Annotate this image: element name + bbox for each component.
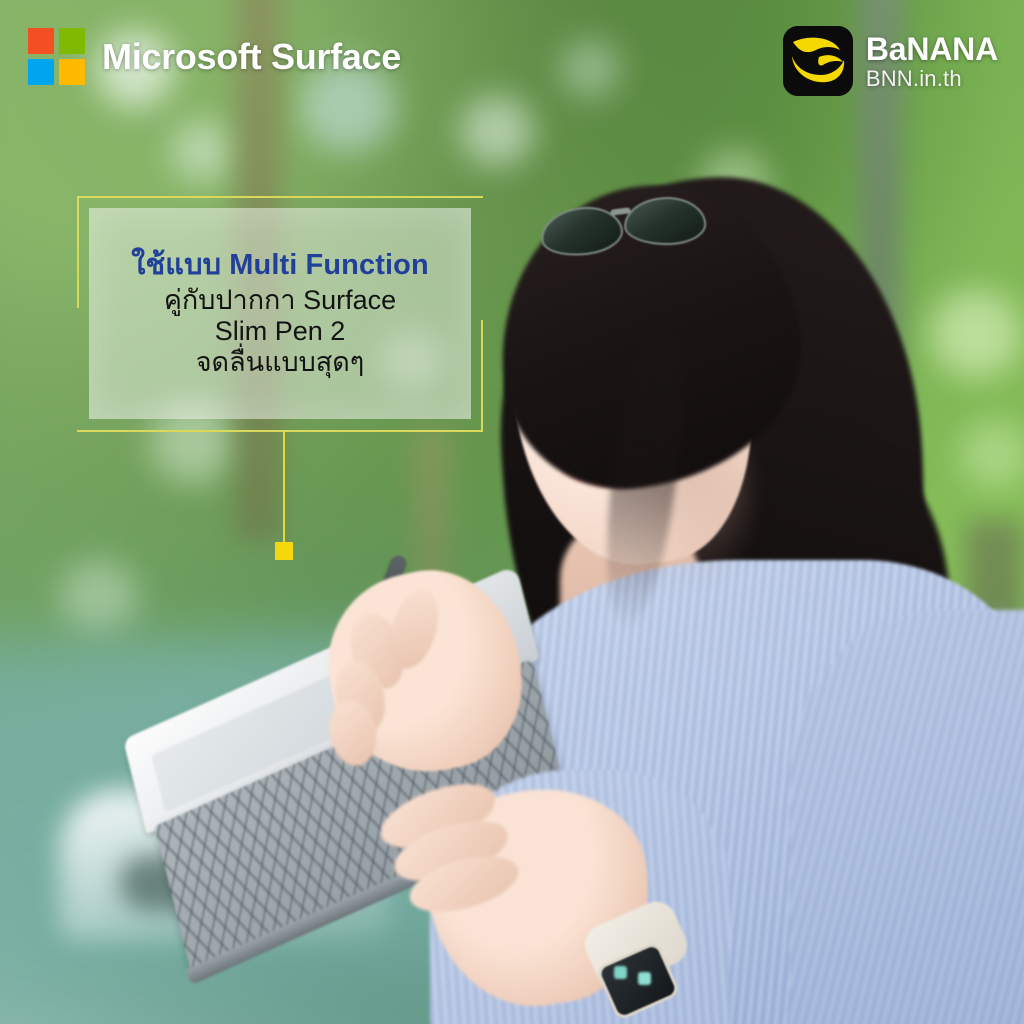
sunglasses-lens-right — [624, 196, 707, 245]
microsoft-logo-icon — [28, 28, 85, 85]
microsoft-logo-green-square — [59, 28, 85, 54]
advertisement-canvas: ใช้แบบ Multi Function คู่กับปากกา Surfac… — [0, 0, 1024, 1024]
banana-branding: BaNANA BNN.in.th — [783, 26, 998, 96]
banana-text-block: BaNANA BNN.in.th — [866, 33, 998, 90]
callout-line-1: คู่กับปากกา Surface — [164, 285, 396, 316]
callout-line-3: จดลื่นแบบสุดๆ — [196, 347, 365, 378]
smartwatch-screen-glyph — [638, 972, 651, 985]
callout-line-2: Slim Pen 2 — [215, 316, 346, 347]
banana-url: BNN.in.th — [866, 68, 998, 90]
microsoft-surface-branding: Microsoft Surface — [28, 28, 401, 85]
callout-headline: ใช้แบบ Multi Function — [131, 249, 429, 282]
callout-marker-square — [275, 542, 293, 560]
subject-woman — [0, 0, 1024, 1024]
microsoft-logo-blue-square — [28, 59, 54, 85]
smartwatch-screen-glyph — [614, 966, 627, 979]
callout-connector-line — [283, 432, 285, 545]
microsoft-surface-wordmark: Microsoft Surface — [102, 36, 401, 78]
banana-logo-icon — [783, 26, 853, 96]
microsoft-logo-yellow-square — [59, 59, 85, 85]
sweater-shoulder — [790, 610, 1024, 1024]
banana-name: BaNANA — [866, 33, 998, 65]
microsoft-logo-red-square — [28, 28, 54, 54]
callout-text-block: ใช้แบบ Multi Function คู่กับปากกา Surfac… — [89, 208, 471, 419]
